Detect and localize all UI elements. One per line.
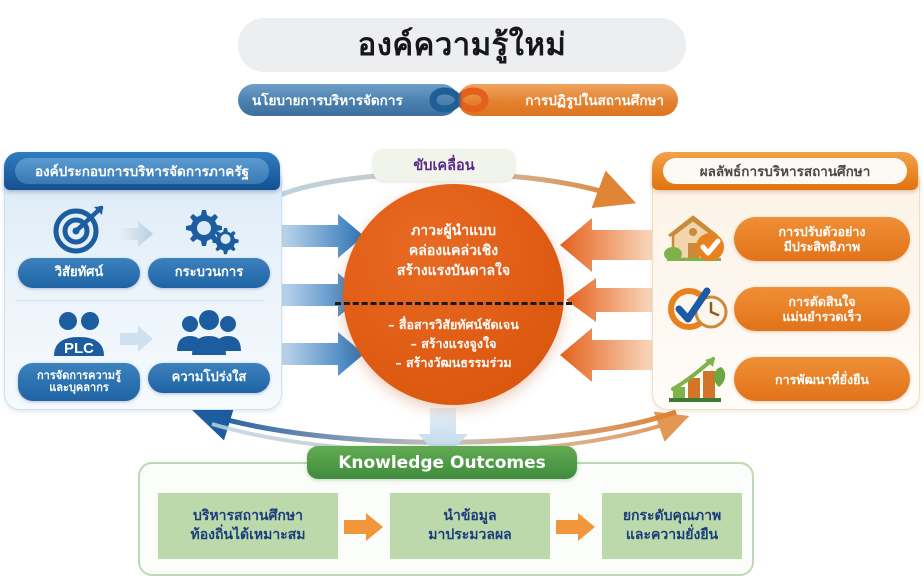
clock-check-icon bbox=[660, 279, 734, 339]
banner-right-label: การปฏิรูปในสถานศึกษา bbox=[525, 89, 664, 111]
right-item-sustainable-label: การพัฒนาที่ยั่งยืน bbox=[734, 357, 910, 401]
center-bullet-3: – สร้างวัฒนธรรมร่วม bbox=[343, 354, 564, 373]
growth-chart-leaf-icon bbox=[660, 349, 734, 409]
outcome-arrow-2 bbox=[556, 512, 596, 542]
left-panel-divider bbox=[16, 300, 264, 301]
left-item-process[interactable]: กระบวนการ bbox=[148, 200, 270, 288]
center-bullet-2: – สร้างแรงจูงใจ bbox=[343, 335, 564, 354]
right-item-adaptation-label: การปรับตัวอย่าง มีประสิทธิภาพ bbox=[734, 217, 910, 261]
page-title-text: องค์ความรู้ใหม่ bbox=[358, 30, 567, 61]
group-people-icon bbox=[148, 305, 270, 363]
left-item-plc[interactable]: PLC การจัดการความรู้ และบุคลากร bbox=[18, 305, 140, 401]
left-item-transparency-label: ความโปร่งใส bbox=[148, 363, 270, 393]
center-divider bbox=[335, 302, 572, 305]
drive-label-badge: ขับเคลื่อน bbox=[373, 149, 515, 181]
center-heading-line-2: คล่องแคล่วเชิง bbox=[343, 242, 564, 262]
left-inner-arrow-bottom bbox=[120, 325, 154, 353]
outcome-arrow-1 bbox=[344, 512, 384, 542]
outcome-box-3[interactable]: ยกระดับคุณภาพ และความยั่งยืน bbox=[602, 493, 742, 559]
center-heading-line-1: ภาวะผู้นำแบบ bbox=[343, 222, 564, 242]
right-panel-header: ผลลัพธ์การบริหารสถานศึกษา bbox=[652, 152, 918, 190]
right-item-sustainable[interactable]: การพัฒนาที่ยั่งยืน bbox=[660, 348, 910, 410]
left-item-process-label: กระบวนการ bbox=[148, 258, 270, 288]
school-check-icon bbox=[660, 209, 734, 269]
outcomes-header: Knowledge Outcomes bbox=[307, 446, 577, 479]
center-bullet-1: – สื่อสารวิสัยทัศน์ชัดเจน bbox=[343, 316, 564, 335]
center-bullets: – สื่อสารวิสัยทัศน์ชัดเจน – สร้างแรงจูงใ… bbox=[343, 316, 564, 372]
left-item-vision-label: วิสัยทัศน์ bbox=[18, 258, 140, 288]
drive-label: ขับเคลื่อน bbox=[413, 154, 474, 177]
center-heading-line-3: สร้างแรงบันดาลใจ bbox=[343, 262, 564, 282]
outcome-box-1[interactable]: บริหารสถานศึกษา ท้องถิ่นได้เหมาะสม bbox=[158, 493, 338, 559]
curve-arrow-bottom bbox=[206, 412, 676, 442]
diagram-canvas: องค์ความรู้ใหม่ นโยบายการบริหารจัดการ กา… bbox=[0, 0, 924, 583]
right-panel-header-label: ผลลัพธ์การบริหารสถานศึกษา bbox=[700, 160, 871, 182]
left-inner-arrow-top bbox=[120, 220, 154, 248]
right-item-adaptation[interactable]: การปรับตัวอย่าง มีประสิทธิภาพ bbox=[660, 208, 910, 270]
page-title: องค์ความรู้ใหม่ bbox=[238, 18, 686, 72]
left-panel-header: องค์ประกอบการบริหารจัดการภาครัฐ bbox=[4, 152, 280, 190]
center-circle: ภาวะผู้นำแบบ คล่องแคล่วเชิง สร้างแรงบันด… bbox=[343, 184, 564, 405]
left-panel-header-label: องค์ประกอบการบริหารจัดการภาครัฐ bbox=[35, 160, 249, 182]
center-heading: ภาวะผู้นำแบบ คล่องแคล่วเชิง สร้างแรงบันด… bbox=[343, 222, 564, 282]
gears-icon bbox=[148, 200, 270, 258]
orange-flow-arrows bbox=[560, 218, 660, 382]
svg-text:PLC: PLC bbox=[64, 340, 94, 357]
outcome-box-2[interactable]: นำข้อมูล มาประมวลผล bbox=[390, 493, 550, 559]
right-item-decision-label: การตัดสินใจ แม่นยำรวดเร็ว bbox=[734, 287, 910, 331]
infinity-banner: นโยบายการบริหารจัดการ การปฏิรูปในสถานศึก… bbox=[238, 84, 678, 116]
left-item-plc-label: การจัดการความรู้ และบุคลากร bbox=[18, 363, 140, 401]
left-item-transparency[interactable]: ความโปร่งใส bbox=[148, 305, 270, 393]
infinity-icon bbox=[403, 82, 515, 118]
banner-left-label: นโยบายการบริหารจัดการ bbox=[252, 89, 403, 111]
right-item-decision[interactable]: การตัดสินใจ แม่นยำรวดเร็ว bbox=[660, 278, 910, 340]
outcomes-header-label: Knowledge Outcomes bbox=[338, 453, 546, 473]
